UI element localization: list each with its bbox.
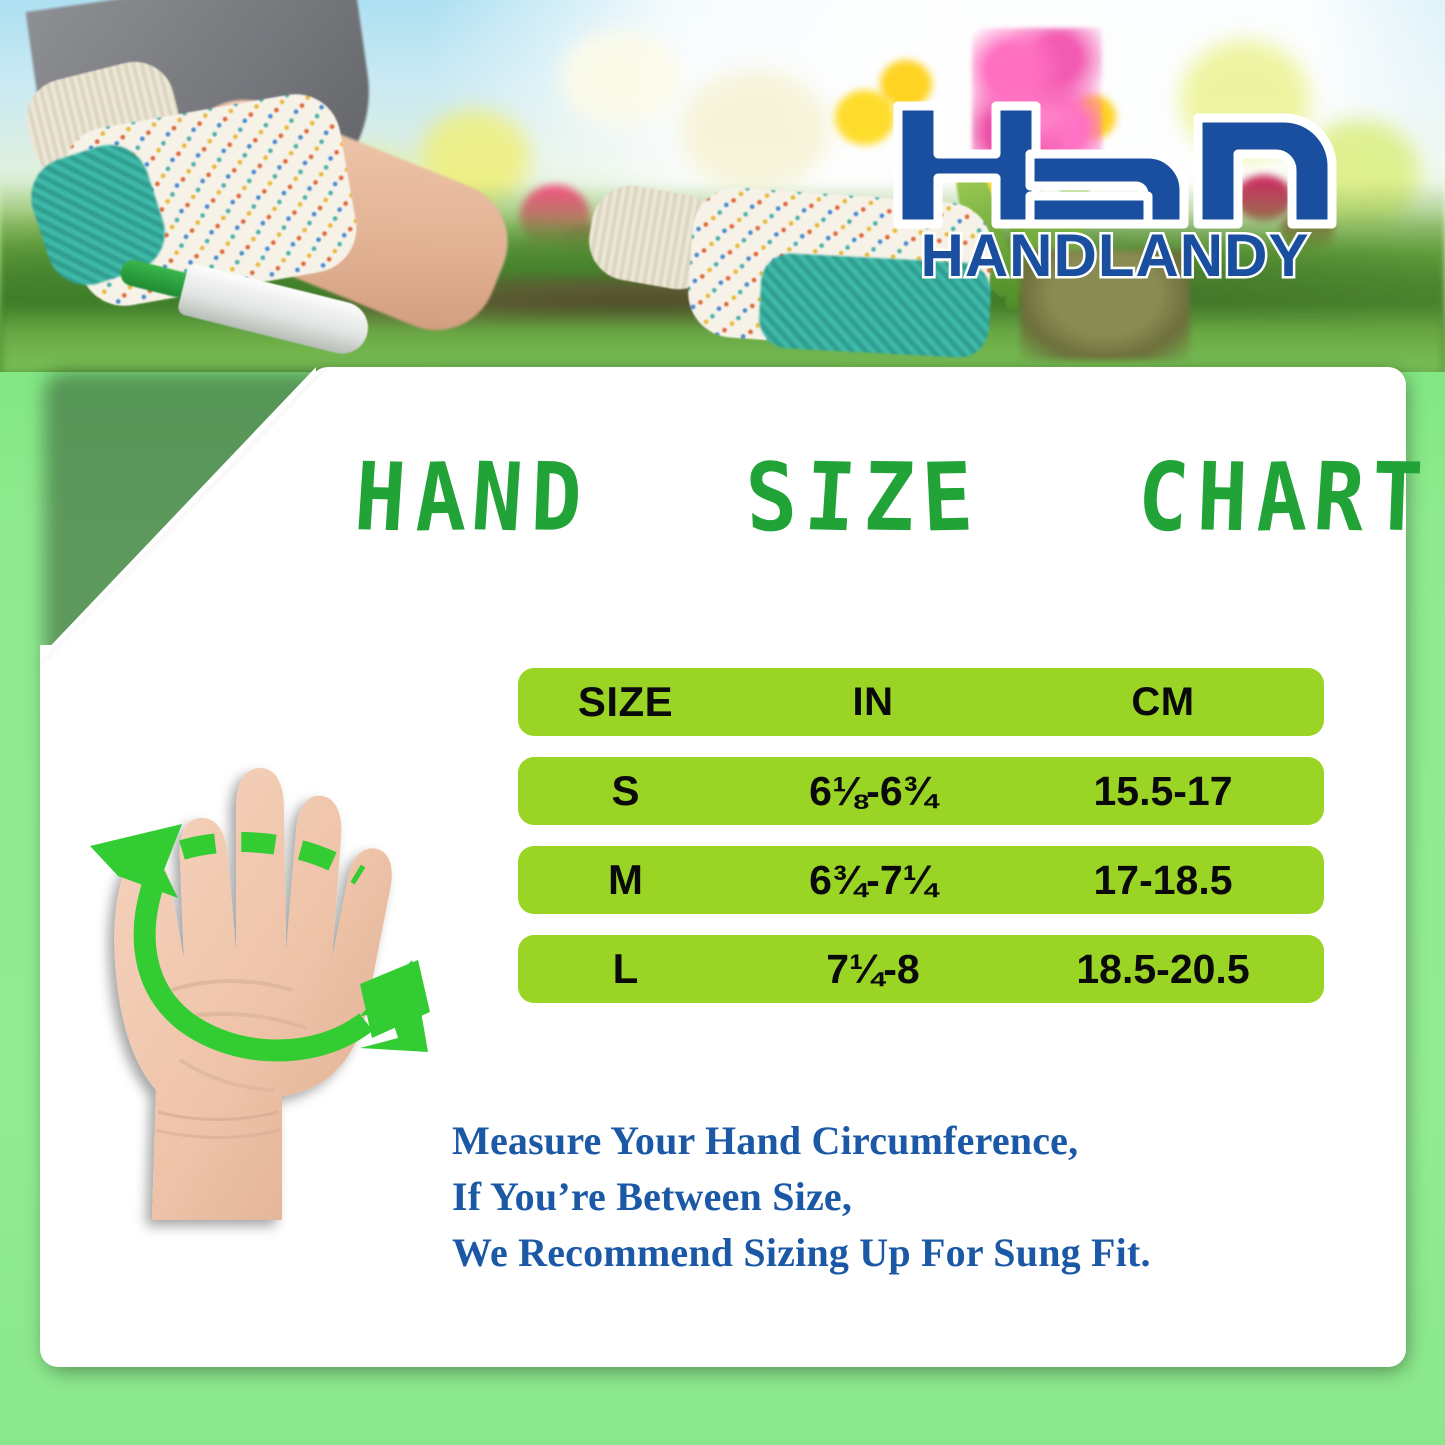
brand-logo: HANDLANDY [880,96,1350,286]
column-header-size: SIZE [518,681,733,723]
cell-cm: 18.5-20.5 [1013,949,1313,990]
note-line-1: Measure Your Hand Circumference, [452,1113,1352,1169]
size-table: SIZE IN CM S 6⅛-6¾ 15.5-17 M 6¾-7¼ 17-18… [518,668,1324,1024]
cell-in: 6⅛-6¾ [733,771,1013,812]
column-header-in: IN [733,682,1013,722]
table-row: L 7¼-8 18.5-20.5 [518,935,1324,1003]
cell-size: S [518,770,733,812]
table-row: S 6⅛-6¾ 15.5-17 [518,757,1324,825]
table-header-row: SIZE IN CM [518,668,1324,736]
hand-circumference-icon [60,660,480,1260]
hero-photo: HANDLANDY [0,0,1445,372]
measurement-note: Measure Your Hand Circumference, If You’… [452,1113,1352,1281]
note-line-3: We Recommend Sizing Up For Sung Fit. [452,1225,1352,1281]
brand-wordmark: HANDLANDY [921,222,1310,286]
poster-canvas: HANDLANDY HAND SIZE CHART HAND SIZE CHAR… [0,0,1445,1445]
cell-size: M [518,859,733,901]
hld-monogram-icon [898,106,1332,224]
cell-cm: 15.5-17 [1013,771,1313,812]
cell-cm: 17-18.5 [1013,860,1313,901]
cell-size: L [518,948,733,990]
note-line-2: If You’re Between Size, [452,1169,1352,1225]
column-header-cm: CM [1013,682,1313,722]
cell-in: 6¾-7¼ [733,860,1013,901]
table-row: M 6¾-7¼ 17-18.5 [518,846,1324,914]
cell-in: 7¼-8 [733,949,1013,990]
page-title: HAND SIZE CHART [355,447,1375,548]
